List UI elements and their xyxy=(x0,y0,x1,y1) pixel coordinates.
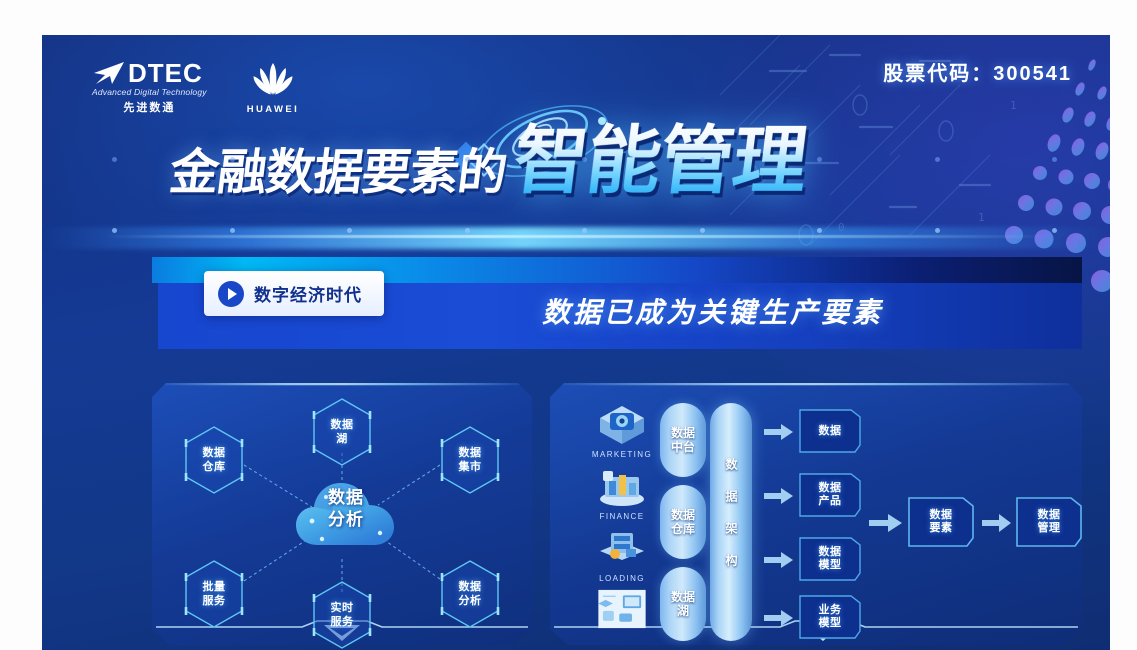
management-label-line1: 数据 xyxy=(1038,509,1061,522)
node-label-line1: 批量 xyxy=(203,580,226,594)
source-label: MARKETING xyxy=(587,450,657,459)
era-badge[interactable]: 数字经济时代 xyxy=(204,271,384,316)
node-label-line2: 服务 xyxy=(331,615,354,629)
header-glow-streak xyxy=(42,227,1110,249)
source-label: FINANCE xyxy=(587,512,657,521)
panel-top-glow xyxy=(152,383,532,385)
node-batch-service[interactable]: 批量 服务 xyxy=(183,559,245,629)
title-part-1: 金融数据要素的 xyxy=(167,145,510,201)
flow-arrow-3 xyxy=(764,551,794,569)
dtec-wordmark: DTEC xyxy=(128,60,203,86)
cube-box-icon xyxy=(595,403,649,447)
management-label-line2: 管理 xyxy=(1038,522,1061,535)
flow-arrow-1 xyxy=(764,423,794,441)
flow-arrow-4 xyxy=(764,609,794,627)
output-label-line1: 数据 xyxy=(819,425,842,438)
node-data-warehouse[interactable]: 数据 仓库 xyxy=(183,425,245,495)
stage-label-line2: 仓库 xyxy=(671,522,695,536)
stage-data-lake[interactable]: 数据 湖 xyxy=(660,567,706,641)
dtec-tagline: Advanced Digital Technology xyxy=(92,87,207,97)
stage-label-line1: 数据 xyxy=(671,590,695,604)
node-label-line1: 数据 xyxy=(203,446,226,460)
logo-group: DTEC Advanced Digital Technology 先进数通 HU… xyxy=(92,60,299,115)
huawei-logo: HUAWEI xyxy=(247,60,299,115)
huawei-flower-icon xyxy=(253,62,293,96)
node-label-line1: 实时 xyxy=(331,601,354,615)
node-label-line1: 数据 xyxy=(331,418,354,432)
element-label-line2: 要素 xyxy=(930,522,953,535)
node-label-line2: 仓库 xyxy=(203,460,226,474)
cloud-label-line2: 分析 xyxy=(292,509,400,531)
node-label-line2: 湖 xyxy=(336,432,348,446)
node-label-line2: 分析 xyxy=(459,594,482,608)
stage-label-line1: 数据 xyxy=(671,508,695,522)
node-data-lake[interactable]: 数据 湖 xyxy=(311,397,373,467)
title-part-2: 智能管理 xyxy=(509,121,811,201)
data-element-box[interactable]: 数据 要素 xyxy=(908,497,974,547)
play-icon xyxy=(218,281,244,307)
era-badge-label: 数字经济时代 xyxy=(254,281,362,306)
svg-text:1: 1 xyxy=(1010,99,1017,112)
output-label-line1: 业务 xyxy=(819,604,842,617)
analytics-screen-icon xyxy=(595,589,649,629)
node-data-analysis[interactable]: 数据 分析 xyxy=(439,559,501,629)
output-label-line2: 产品 xyxy=(819,495,842,508)
stage-label-line1: 数据 xyxy=(671,426,695,440)
stage-data-midplatform[interactable]: 数据 中台 xyxy=(660,403,706,477)
node-realtime-service[interactable]: 实时 服务 xyxy=(311,580,373,650)
output-business-model[interactable]: 业务 模型 xyxy=(799,595,861,639)
stage-label-line2: 湖 xyxy=(671,604,695,618)
cloud-center-label: 数据 分析 xyxy=(292,487,400,531)
cloud-label-line1: 数据 xyxy=(292,487,400,509)
data-management-box[interactable]: 数据 管理 xyxy=(1016,497,1082,547)
flow-arrow-converge xyxy=(869,513,903,533)
presentation-slide: 101 01 xyxy=(42,35,1110,650)
source-finance[interactable]: FINANCE xyxy=(587,465,657,521)
stage-data-warehouse[interactable]: 数据 仓库 xyxy=(660,485,706,559)
dot-row-lower xyxy=(112,228,1052,238)
output-label-line1: 数据 xyxy=(819,546,842,559)
section-banner: 数字经济时代 数据已成为关键生产要素 xyxy=(152,257,1082,357)
architecture-label: 数据架构 xyxy=(714,458,748,586)
bank-chart-icon xyxy=(595,465,649,509)
header-glow-line xyxy=(102,235,1052,238)
node-label-line2: 集市 xyxy=(459,460,482,474)
node-label-line1: 数据 xyxy=(459,446,482,460)
flow-arrow-final xyxy=(982,513,1012,533)
data-architecture-cylinder[interactable]: 数据架构 xyxy=(710,403,752,641)
main-title: 金融数据要素的 智能管理 xyxy=(170,121,806,201)
title-block: 金融数据要素的 智能管理 xyxy=(42,113,1110,223)
banner-headline: 数据已成为关键生产要素 xyxy=(542,291,883,331)
node-data-mart[interactable]: 数据 集市 xyxy=(439,425,501,495)
source-analytics[interactable] xyxy=(587,589,657,634)
stock-code: 股票代码：300541 xyxy=(883,57,1072,86)
output-data-product[interactable]: 数据 产品 xyxy=(799,473,861,517)
source-marketing[interactable]: MARKETING xyxy=(587,403,657,459)
source-loading[interactable]: LOADING xyxy=(587,527,657,583)
dtec-logo: DTEC Advanced Digital Technology 先进数通 xyxy=(92,60,207,115)
slide-page: 101 01 xyxy=(0,0,1137,650)
dtec-arrow-icon xyxy=(92,60,126,86)
output-label-line2: 模型 xyxy=(819,559,842,572)
output-data[interactable]: 数据 xyxy=(799,409,861,453)
stage-label-line2: 中台 xyxy=(671,440,695,454)
source-icon-column: MARKETING FINANCE xyxy=(587,403,657,640)
source-label: LOADING xyxy=(587,574,657,583)
output-label-line1: 数据 xyxy=(819,482,842,495)
server-load-icon xyxy=(595,527,649,571)
output-label-line2: 模型 xyxy=(819,617,842,630)
flow-arrow-2 xyxy=(764,487,794,505)
node-label-line1: 数据 xyxy=(459,580,482,594)
output-data-model[interactable]: 数据 模型 xyxy=(799,537,861,581)
element-label-line1: 数据 xyxy=(930,509,953,522)
node-label-line2: 服务 xyxy=(203,594,226,608)
panel-top-glow xyxy=(550,383,1082,385)
